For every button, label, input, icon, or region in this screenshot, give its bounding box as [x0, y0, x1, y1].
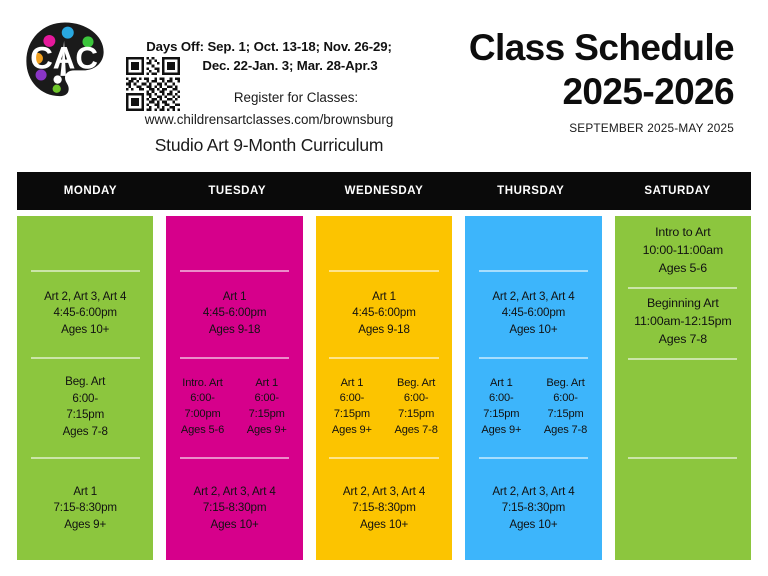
- class-slot: Art 2, Art 3, Art 44:45-6:00pmAges 10+: [17, 270, 153, 358]
- class-entry: Art 2, Art 3, Art 47:15-8:30pmAges 10+: [343, 484, 425, 533]
- class-entry-line: Ages 10+: [343, 517, 425, 533]
- day-header-thursday: THURSDAY: [457, 172, 604, 210]
- class-entry-line: Beg. Art: [63, 374, 108, 390]
- class-entry-line: 6:00-: [469, 391, 533, 407]
- class-entry: Art 16:00-7:15pmAges 9+: [235, 376, 299, 439]
- class-entry: Art 14:45-6:00pmAges 9-18: [352, 289, 415, 338]
- class-entry: Art 17:15-8:30pmAges 9+: [53, 484, 116, 533]
- class-entry-line: Ages 10+: [44, 322, 126, 338]
- class-entry-line: 6:00-: [384, 391, 448, 407]
- class-entry-line: 7:00pm: [170, 407, 234, 423]
- day-header-monday: MONDAY: [17, 172, 164, 210]
- class-entry: Beg. Art6:00-7:15pmAges 7-8: [533, 376, 597, 439]
- slot-divider: [31, 457, 140, 459]
- slot-divider: [31, 270, 140, 272]
- day-header-bar: MONDAYTUESDAYWEDNESDAYTHURSDAYSATURDAY: [17, 172, 751, 210]
- class-entry-line: 6:00-: [63, 391, 108, 407]
- class-slot: Beg. Art6:00-7:15pmAges 7-8: [17, 357, 153, 456]
- date-range: SEPTEMBER 2025-MAY 2025: [404, 121, 734, 135]
- class-entry-line: Ages 9+: [53, 517, 116, 533]
- class-entry-line: Ages 9-18: [203, 322, 266, 338]
- class-entry-line: Ages 10+: [492, 322, 574, 338]
- class-entry-line: Ages 7-8: [533, 423, 597, 439]
- class-slot: Art 2, Art 3, Art 47:15-8:30pmAges 10+: [166, 457, 302, 560]
- schedule-column-saturday: Intro to Art10:00-11:00amAges 5-6Beginni…: [615, 216, 751, 560]
- class-slot: Art 14:45-6:00pmAges 9-18: [166, 270, 302, 358]
- class-entry-pair: Art 16:00-7:15pmAges 9+Beg. Art6:00-7:15…: [320, 376, 448, 439]
- class-entry: Art 2, Art 3, Art 47:15-8:30pmAges 10+: [492, 484, 574, 533]
- class-entry: Intro to Art10:00-11:00amAges 5-6: [643, 224, 723, 278]
- class-entry-line: Beginning Art: [634, 295, 731, 313]
- class-entry-line: Ages 9+: [320, 423, 384, 439]
- schedule-column-tuesday: Art 14:45-6:00pmAges 9-18Intro. Art6:00-…: [166, 216, 302, 560]
- class-entry-line: 7:15pm: [469, 407, 533, 423]
- slot-divider: [180, 457, 289, 459]
- page-title-years: 2025-2026: [404, 71, 734, 112]
- register-label: Register for Classes:: [104, 88, 434, 108]
- slot-divider: [180, 270, 289, 272]
- class-entry-line: 7:15pm: [63, 407, 108, 423]
- class-entry-line: 7:15pm: [320, 407, 384, 423]
- slot-divider: [329, 357, 438, 359]
- class-slot: [316, 216, 452, 270]
- class-entry-line: Ages 9+: [469, 423, 533, 439]
- class-entry-line: Art 1: [235, 376, 299, 392]
- class-entry: Beg. Art6:00-7:15pmAges 7-8: [384, 376, 448, 439]
- class-slot: Art 17:15-8:30pmAges 9+: [17, 457, 153, 560]
- slot-divider: [628, 358, 737, 360]
- class-entry-line: Art 2, Art 3, Art 4: [343, 484, 425, 500]
- day-header-saturday: SATURDAY: [604, 172, 751, 210]
- class-entry: Beginning Art11:00am-12:15pmAges 7-8: [634, 295, 731, 349]
- class-slot: [17, 216, 153, 270]
- class-entry-line: 4:45-6:00pm: [44, 305, 126, 321]
- class-entry-line: 4:45-6:00pm: [492, 305, 574, 321]
- header-info: Days Off: Sep. 1; Oct. 13-18; Nov. 26-29…: [104, 38, 434, 157]
- class-entry-line: Ages 10+: [194, 517, 276, 533]
- class-entry: Beg. Art6:00-7:15pmAges 7-8: [63, 374, 108, 440]
- class-slot: [166, 216, 302, 270]
- class-entry-line: Art 1: [352, 289, 415, 305]
- class-slot: Intro to Art10:00-11:00amAges 5-6: [615, 216, 751, 287]
- day-header-wednesday: WEDNESDAY: [311, 172, 458, 210]
- slot-divider: [329, 270, 438, 272]
- slot-divider: [479, 270, 588, 272]
- class-entry: Art 16:00-7:15pmAges 9+: [320, 376, 384, 439]
- curriculum-subtitle: Studio Art 9-Month Curriculum: [104, 134, 434, 158]
- class-slot: Art 2, Art 3, Art 47:15-8:30pmAges 10+: [465, 457, 601, 560]
- page-title: Class Schedule: [404, 28, 734, 68]
- class-entry-line: 7:15-8:30pm: [343, 500, 425, 516]
- class-slot: Art 16:00-7:15pmAges 9+Beg. Art6:00-7:15…: [465, 357, 601, 456]
- class-slot: [615, 358, 751, 457]
- class-entry-line: Art 1: [203, 289, 266, 305]
- class-entry: Art 16:00-7:15pmAges 9+: [469, 376, 533, 439]
- class-entry-line: 10:00-11:00am: [643, 242, 723, 260]
- class-entry-line: Ages 7-8: [63, 424, 108, 440]
- cac-palette-logo-icon: CAC: [19, 17, 111, 109]
- class-entry-line: 11:00am-12:15pm: [634, 313, 731, 331]
- schedule-column-thursday: Art 2, Art 3, Art 44:45-6:00pmAges 10+Ar…: [465, 216, 601, 560]
- header: CAC: [0, 0, 768, 170]
- class-entry-line: Art 1: [320, 376, 384, 392]
- class-slot: Intro. Art6:00-7:00pmAges 5-6Art 16:00-7…: [166, 357, 302, 456]
- class-entry-line: 7:15pm: [384, 407, 448, 423]
- class-entry-line: 6:00-: [320, 391, 384, 407]
- slot-divider: [479, 457, 588, 459]
- class-entry: Intro. Art6:00-7:00pmAges 5-6: [170, 376, 234, 439]
- days-off-line1: Days Off: Sep. 1; Oct. 13-18; Nov. 26-29…: [146, 39, 392, 54]
- days-off-line2: Dec. 22-Jan. 3; Mar. 28-Apr.3: [104, 57, 434, 76]
- class-entry-line: 6:00-: [170, 391, 234, 407]
- class-entry-line: 6:00-: [533, 391, 597, 407]
- class-entry-line: Ages 9-18: [352, 322, 415, 338]
- class-entry-line: Ages 5-6: [643, 260, 723, 278]
- class-entry-line: Art 2, Art 3, Art 4: [492, 289, 574, 305]
- class-entry-pair: Art 16:00-7:15pmAges 9+Beg. Art6:00-7:15…: [469, 376, 597, 439]
- class-entry-line: Intro to Art: [643, 224, 723, 242]
- class-entry-line: Intro. Art: [170, 376, 234, 392]
- class-entry-line: 7:15-8:30pm: [194, 500, 276, 516]
- class-entry: Art 2, Art 3, Art 44:45-6:00pmAges 10+: [492, 289, 574, 338]
- title-block: Class Schedule 2025-2026 SEPTEMBER 2025-…: [404, 28, 734, 135]
- class-entry-line: Art 2, Art 3, Art 4: [194, 484, 276, 500]
- class-entry-line: Art 1: [53, 484, 116, 500]
- class-schedule-flyer: CAC: [0, 0, 768, 576]
- class-entry-line: Art 1: [469, 376, 533, 392]
- class-entry-line: Ages 5-6: [170, 423, 234, 439]
- class-entry-line: Art 2, Art 3, Art 4: [44, 289, 126, 305]
- schedule-column-monday: Art 2, Art 3, Art 44:45-6:00pmAges 10+Be…: [17, 216, 153, 560]
- class-slot: [615, 457, 751, 560]
- class-entry: Art 2, Art 3, Art 44:45-6:00pmAges 10+: [44, 289, 126, 338]
- class-slot: [465, 216, 601, 270]
- class-slot: Art 16:00-7:15pmAges 9+Beg. Art6:00-7:15…: [316, 357, 452, 456]
- class-entry: Art 2, Art 3, Art 47:15-8:30pmAges 10+: [194, 484, 276, 533]
- class-entry-line: 7:15-8:30pm: [492, 500, 574, 516]
- slot-divider: [329, 457, 438, 459]
- class-slot: Art 2, Art 3, Art 47:15-8:30pmAges 10+: [316, 457, 452, 560]
- day-header-tuesday: TUESDAY: [164, 172, 311, 210]
- slot-divider: [479, 357, 588, 359]
- class-entry-line: Ages 9+: [235, 423, 299, 439]
- class-entry-line: Ages 7-8: [634, 331, 731, 349]
- class-entry-line: Beg. Art: [533, 376, 597, 392]
- class-entry-line: 7:15-8:30pm: [53, 500, 116, 516]
- class-entry-line: 4:45-6:00pm: [352, 305, 415, 321]
- class-slot: Art 14:45-6:00pmAges 9-18: [316, 270, 452, 358]
- class-slot: Beginning Art11:00am-12:15pmAges 7-8: [615, 287, 751, 358]
- class-entry-line: 7:15pm: [533, 407, 597, 423]
- class-entry-line: 4:45-6:00pm: [203, 305, 266, 321]
- class-entry-line: Ages 7-8: [384, 423, 448, 439]
- class-entry-line: 7:15pm: [235, 407, 299, 423]
- class-entry-line: Art 2, Art 3, Art 4: [492, 484, 574, 500]
- slot-divider: [180, 357, 289, 359]
- class-entry-line: 6:00-: [235, 391, 299, 407]
- class-slot: Art 2, Art 3, Art 44:45-6:00pmAges 10+: [465, 270, 601, 358]
- schedule-column-wednesday: Art 14:45-6:00pmAges 9-18Art 16:00-7:15p…: [316, 216, 452, 560]
- class-entry-pair: Intro. Art6:00-7:00pmAges 5-6Art 16:00-7…: [170, 376, 298, 439]
- schedule-grid: Art 2, Art 3, Art 44:45-6:00pmAges 10+Be…: [17, 216, 751, 560]
- class-entry-line: Beg. Art: [384, 376, 448, 392]
- days-off-text: Days Off: Sep. 1; Oct. 13-18; Nov. 26-29…: [104, 38, 434, 75]
- slot-divider: [628, 457, 737, 459]
- slot-divider: [31, 357, 140, 359]
- slot-divider: [628, 287, 737, 289]
- class-entry: Art 14:45-6:00pmAges 9-18: [203, 289, 266, 338]
- class-entry-line: Ages 10+: [492, 517, 574, 533]
- register-url[interactable]: www.childrensartclasses.com/brownsburg: [104, 110, 434, 130]
